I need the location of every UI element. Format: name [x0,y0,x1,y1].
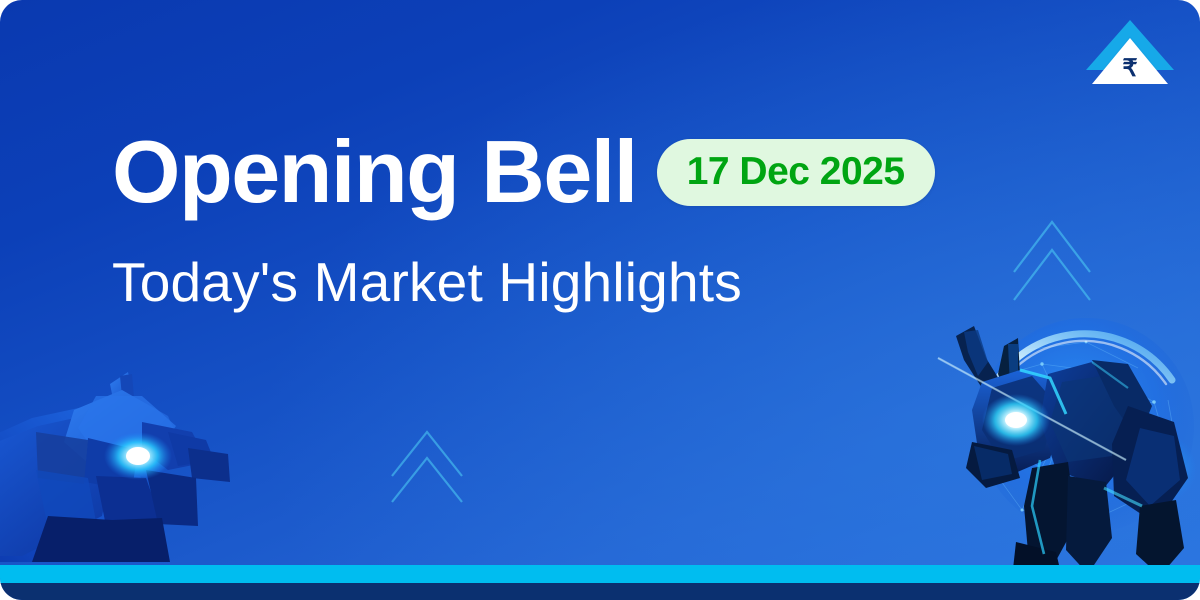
page-subtitle: Today's Market Highlights [112,252,742,313]
page-title: Opening Bell [112,128,637,216]
opening-bell-banner: ₹ Opening Bell 17 Dec 2025 Today's Marke… [0,0,1200,600]
double-chevron-center-icon [384,418,470,508]
bull-mascot-graphic [916,310,1200,578]
bear-mascot-graphic [0,366,242,566]
brand-logo[interactable]: ₹ [1084,18,1176,86]
accent-stripe-cyan [0,565,1200,583]
double-chevron-right-icon [1004,206,1100,306]
rupee-symbol: ₹ [1122,55,1137,82]
headline-row: Opening Bell 17 Dec 2025 [112,128,935,216]
accent-stripe-navy [0,583,1200,600]
date-badge-label: 17 Dec 2025 [687,152,905,191]
date-badge: 17 Dec 2025 [657,139,935,206]
